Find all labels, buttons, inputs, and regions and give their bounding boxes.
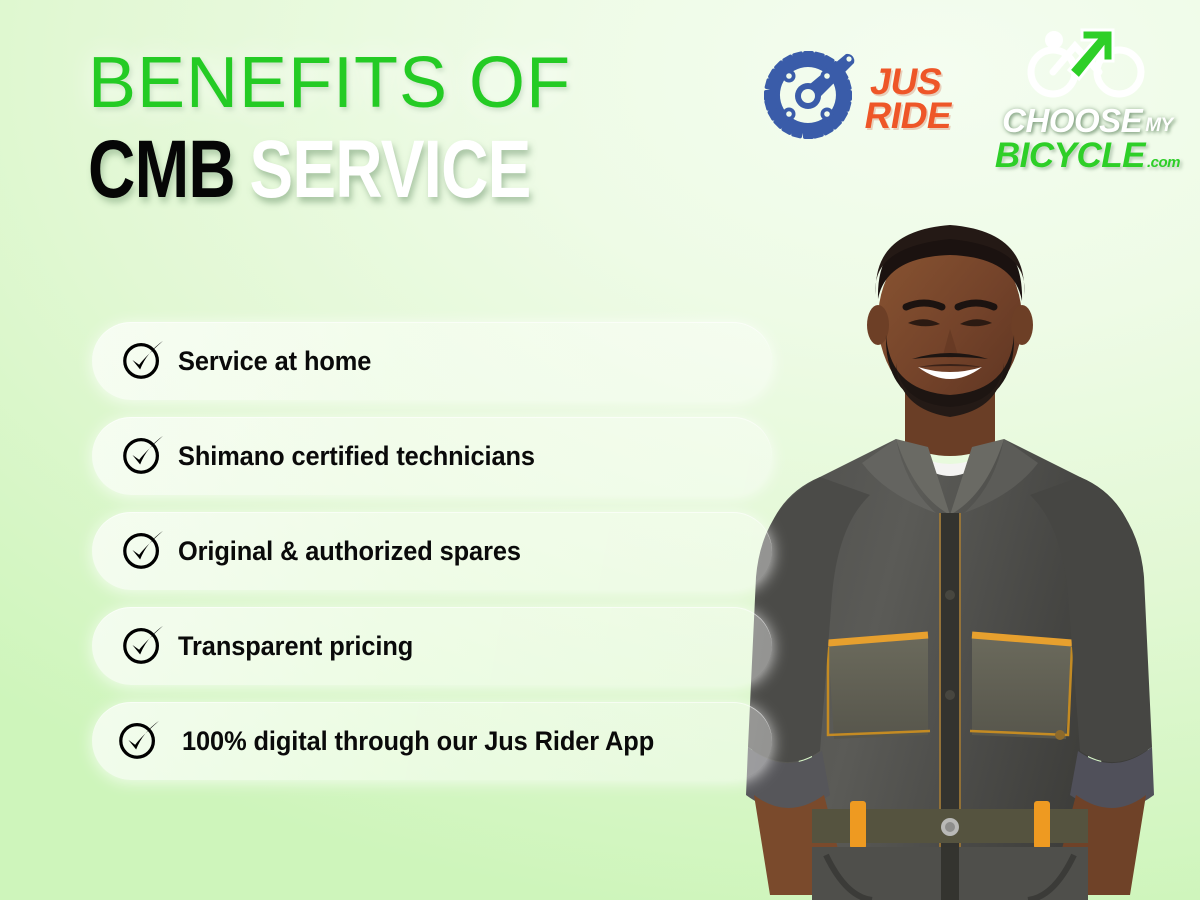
list-item-label: Service at home bbox=[178, 346, 371, 377]
choose-text: CHOOSE bbox=[1002, 104, 1142, 137]
list-item[interactable]: Transparent pricing bbox=[92, 607, 772, 685]
headline-line-1: BENEFITS OF bbox=[88, 46, 708, 120]
circle-check-icon bbox=[120, 431, 166, 477]
jusride-word-2: RIDE bbox=[862, 100, 954, 134]
choosemybicycle-word-2: BICYCLE.com bbox=[995, 138, 1180, 173]
choosemybicycle-word-1: CHOOSEMY bbox=[1002, 104, 1173, 137]
list-item-label: Original & authorized spares bbox=[178, 536, 521, 567]
dotcom-text: .com bbox=[1147, 155, 1180, 170]
technician-photo bbox=[700, 195, 1200, 900]
list-item[interactable]: Shimano certified technicians bbox=[92, 417, 772, 495]
list-item[interactable]: 100% digital through our Jus Rider App bbox=[92, 702, 772, 780]
choosemybicycle-logo[interactable]: CHOOSEMY BICYCLE.com bbox=[995, 26, 1180, 173]
benefits-poster: BENEFITS OF CMBSERVICE bbox=[0, 0, 1200, 900]
circle-check-icon bbox=[120, 336, 166, 382]
jusride-logo[interactable]: JUS RIDE bbox=[760, 47, 954, 152]
list-item[interactable]: Service at home bbox=[92, 322, 772, 400]
headline-brand: CMB bbox=[88, 124, 235, 215]
list-item-label: Shimano certified technicians bbox=[178, 441, 535, 472]
headline-line-2: CMBSERVICE bbox=[88, 128, 584, 212]
list-item-label: 100% digital through our Jus Rider App bbox=[182, 726, 654, 757]
bicycle-arrow-icon bbox=[1027, 26, 1147, 104]
jusride-wordmark: JUS RIDE bbox=[862, 65, 960, 133]
circle-check-icon bbox=[120, 621, 166, 667]
list-item[interactable]: Original & authorized spares bbox=[92, 512, 772, 590]
headline-service: SERVICE bbox=[249, 124, 530, 215]
my-text: MY bbox=[1145, 116, 1173, 135]
circle-check-icon bbox=[120, 526, 166, 572]
circle-check-icon bbox=[116, 716, 162, 762]
benefits-list: Service at home Shimano certified techni… bbox=[92, 322, 772, 797]
bicycle-text: BICYCLE bbox=[995, 138, 1145, 173]
list-item-label: Transparent pricing bbox=[178, 631, 413, 662]
chainring-crank-icon bbox=[760, 47, 860, 152]
logo-row: JUS RIDE CHOOSEMY bbox=[760, 26, 1180, 173]
headline-block: BENEFITS OF CMBSERVICE bbox=[88, 46, 708, 212]
